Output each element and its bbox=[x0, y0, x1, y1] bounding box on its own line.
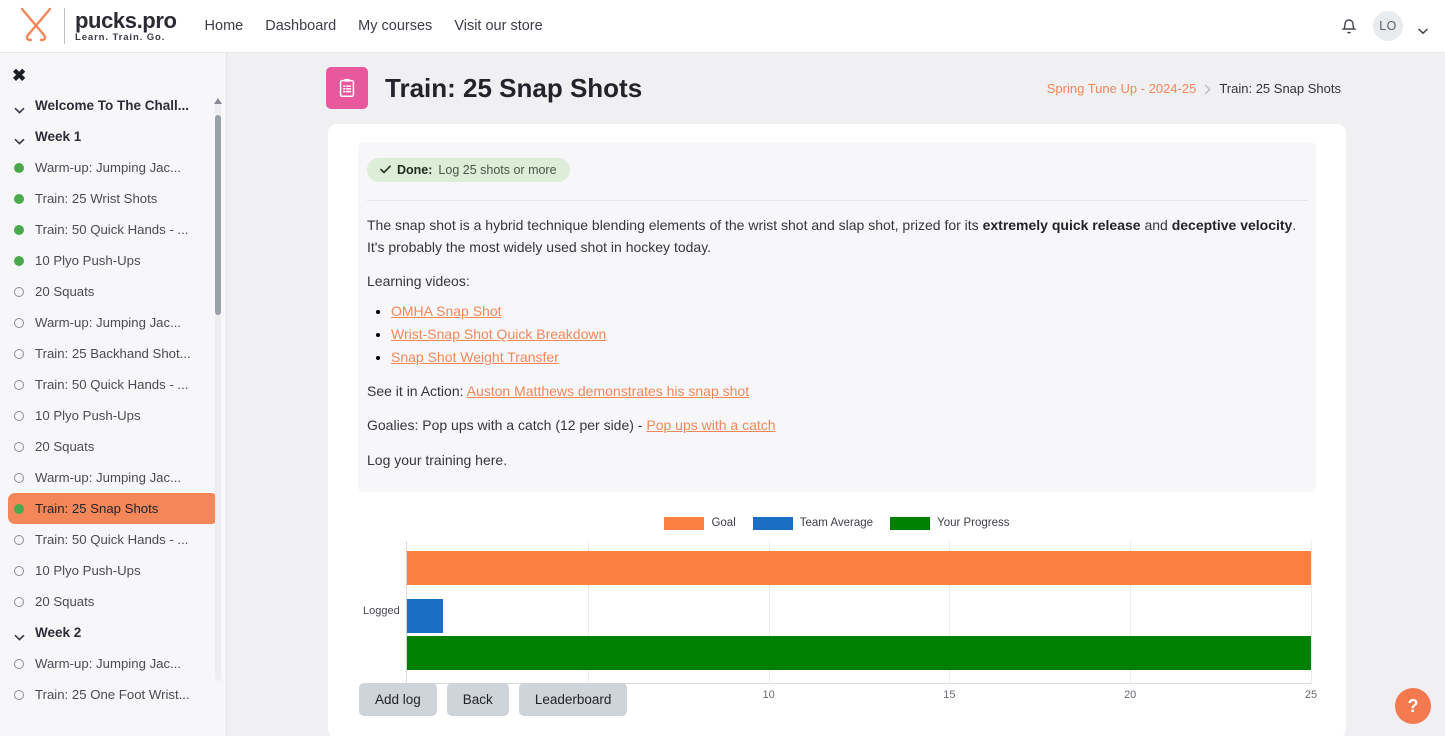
status-badge-requirement: Log 25 shots or more bbox=[438, 163, 556, 177]
nav-link-home[interactable]: Home bbox=[205, 18, 244, 34]
back-button[interactable]: Back bbox=[447, 683, 509, 716]
action-button-row: Add log Back Leaderboard bbox=[359, 683, 627, 716]
incomplete-circle-icon bbox=[14, 442, 24, 452]
sidebar-item-label: Train: 25 Wrist Shots bbox=[35, 191, 157, 206]
sidebar-section-label: Week 1 bbox=[35, 129, 81, 144]
see-in-action-prefix: See it in Action: bbox=[367, 383, 467, 399]
chevron-down-icon bbox=[14, 102, 25, 109]
page-header: Train: 25 Snap Shots Spring Tune Up - 20… bbox=[227, 53, 1445, 119]
sidebar-item-list: Welcome To The Chall...Week 1Warm-up: Ju… bbox=[0, 90, 226, 710]
sidebar-item-16[interactable]: 20 Squats bbox=[8, 586, 218, 617]
sidebar-item-label: Train: 50 Quick Hands - ... bbox=[35, 377, 188, 392]
goalies-prefix: Goalies: Pop ups with a catch (12 per si… bbox=[367, 417, 646, 433]
legend-label: Your Progress bbox=[937, 517, 1009, 529]
status-badge: Done: Log 25 shots or more bbox=[367, 158, 570, 182]
video-link-wrist-snap-shot-quick-breakdown[interactable]: Wrist-Snap Shot Quick Breakdown bbox=[391, 326, 606, 342]
chart-x-tick-label: 15 bbox=[943, 689, 955, 701]
see-in-action-paragraph: See it in Action: Auston Matthews demons… bbox=[367, 381, 1307, 403]
legend-item-1[interactable]: Team Average bbox=[753, 517, 873, 530]
nav-link-visit-our-store[interactable]: Visit our store bbox=[454, 18, 542, 34]
list-item: Snap Shot Weight Transfer bbox=[391, 348, 1307, 367]
sidebar-item-18[interactable]: Warm-up: Jumping Jac... bbox=[8, 648, 218, 679]
chevron-down-icon bbox=[14, 629, 25, 636]
legend-swatch-icon bbox=[753, 517, 793, 530]
chart-x-tick-label: 10 bbox=[762, 689, 774, 701]
chevron-down-icon bbox=[14, 133, 25, 140]
status-badge-state: Done: bbox=[397, 163, 432, 177]
nav-link-my-courses[interactable]: My courses bbox=[358, 18, 432, 34]
brand-tagline: Learn. Train. Go. bbox=[75, 32, 177, 43]
sidebar-item-label: 20 Squats bbox=[35, 284, 94, 299]
chart-legend: GoalTeam AverageYour Progress bbox=[358, 517, 1316, 530]
legend-item-0[interactable]: Goal bbox=[664, 517, 735, 530]
chart-bar-your-progress bbox=[407, 636, 1311, 670]
sidebar-section-0[interactable]: Welcome To The Chall... bbox=[0, 90, 226, 121]
chart-bar-goal bbox=[407, 551, 1311, 585]
brand-name: pucks.pro bbox=[75, 9, 177, 32]
sidebar-item-12[interactable]: Warm-up: Jumping Jac... bbox=[8, 462, 218, 493]
sidebar-item-8[interactable]: Train: 25 Backhand Shot... bbox=[8, 338, 218, 369]
sidebar-item-11[interactable]: 20 Squats bbox=[8, 431, 218, 462]
sidebar-item-label: Train: 50 Quick Hands - ... bbox=[35, 222, 188, 237]
intro-text-1: The snap shot is a hybrid technique blen… bbox=[367, 217, 983, 233]
sidebar-section-1[interactable]: Week 1 bbox=[0, 121, 226, 152]
avatar[interactable]: LO bbox=[1373, 11, 1403, 41]
sidebar-item-6[interactable]: 20 Squats bbox=[8, 276, 218, 307]
chevron-down-icon[interactable] bbox=[1417, 22, 1429, 30]
course-sidebar: ✖ Welcome To The Chall...Week 1Warm-up: … bbox=[0, 53, 227, 736]
goalies-paragraph: Goalies: Pop ups with a catch (12 per si… bbox=[367, 415, 1307, 437]
videos-heading: Learning videos: bbox=[367, 271, 1307, 293]
legend-swatch-icon bbox=[890, 517, 930, 530]
sidebar-section-label: Week 2 bbox=[35, 625, 81, 640]
legend-label: Goal bbox=[711, 517, 735, 529]
sidebar-item-label: 20 Squats bbox=[35, 594, 94, 609]
chart-plot-area: Logged 0510152025 bbox=[406, 541, 1310, 684]
incomplete-circle-icon bbox=[14, 473, 24, 483]
sidebar-item-15[interactable]: 10 Plyo Push-Ups bbox=[8, 555, 218, 586]
sidebar-item-label: Warm-up: Jumping Jac... bbox=[35, 315, 181, 330]
clipboard-checklist-icon bbox=[326, 67, 368, 109]
top-navigation-bar: pucks.pro Learn. Train. Go. Home Dashboa… bbox=[0, 0, 1445, 53]
intro-text-2: and bbox=[1141, 217, 1172, 233]
activity-card: Done: Log 25 shots or more The snap shot… bbox=[328, 124, 1346, 736]
sidebar-item-4[interactable]: Train: 50 Quick Hands - ... bbox=[8, 214, 218, 245]
chart-x-tick-label: 20 bbox=[1124, 689, 1136, 701]
video-link-omha-snap-shot[interactable]: OMHA Snap Shot bbox=[391, 303, 502, 319]
sidebar-section-label: Welcome To The Chall... bbox=[35, 98, 189, 113]
breadcrumb-current: Train: 25 Snap Shots bbox=[1219, 81, 1341, 96]
list-item: OMHA Snap Shot bbox=[391, 302, 1307, 321]
breadcrumb: Spring Tune Up - 2024-25 Train: 25 Snap … bbox=[1047, 81, 1341, 96]
completed-dot-icon bbox=[14, 163, 24, 173]
sidebar-item-5[interactable]: 10 Plyo Push-Ups bbox=[8, 245, 218, 276]
completed-dot-icon bbox=[14, 194, 24, 204]
divider bbox=[367, 200, 1307, 201]
sidebar-item-label: Train: 25 Snap Shots bbox=[35, 501, 158, 516]
legend-label: Team Average bbox=[800, 517, 873, 529]
sidebar-item-label: Warm-up: Jumping Jac... bbox=[35, 656, 181, 671]
legend-item-2[interactable]: Your Progress bbox=[890, 517, 1009, 530]
leaderboard-button[interactable]: Leaderboard bbox=[519, 683, 628, 716]
sidebar-item-label: Train: 25 Backhand Shot... bbox=[35, 346, 191, 361]
intro-paragraph: The snap shot is a hybrid technique blen… bbox=[367, 215, 1307, 258]
chart-y-category-label: Logged bbox=[363, 605, 400, 617]
intro-bold-2: deceptive velocity bbox=[1172, 217, 1293, 233]
sidebar-item-label: 10 Plyo Push-Ups bbox=[35, 563, 141, 578]
page-title: Train: 25 Snap Shots bbox=[385, 73, 642, 104]
chart-bar-team-average bbox=[407, 599, 443, 633]
notification-bell-icon[interactable] bbox=[1339, 16, 1359, 36]
see-in-action-link[interactable]: Auston Matthews demonstrates his snap sh… bbox=[467, 383, 749, 399]
primary-nav-links: Home Dashboard My courses Visit our stor… bbox=[205, 18, 543, 34]
incomplete-circle-icon bbox=[14, 566, 24, 576]
crossed-hockey-sticks-icon bbox=[12, 5, 60, 47]
legend-swatch-icon bbox=[664, 517, 704, 530]
completed-dot-icon bbox=[14, 504, 24, 514]
scroll-up-arrow-icon[interactable] bbox=[214, 91, 222, 97]
sidebar-section-17[interactable]: Week 2 bbox=[0, 617, 226, 648]
sidebar-item-label: Warm-up: Jumping Jac... bbox=[35, 470, 181, 485]
sidebar-item-10[interactable]: 10 Plyo Push-Ups bbox=[8, 400, 218, 431]
help-button[interactable]: ? bbox=[1395, 688, 1431, 724]
incomplete-circle-icon bbox=[14, 690, 24, 700]
intro-bold-1: extremely quick release bbox=[983, 217, 1141, 233]
sidebar-item-label: 10 Plyo Push-Ups bbox=[35, 253, 141, 268]
learning-videos-list: OMHA Snap Shot Wrist-Snap Shot Quick Bre… bbox=[391, 302, 1307, 367]
breadcrumb-parent-link[interactable]: Spring Tune Up - 2024-25 bbox=[1047, 81, 1197, 96]
chevron-right-icon bbox=[1204, 83, 1211, 94]
sidebar-item-label: 10 Plyo Push-Ups bbox=[35, 408, 141, 423]
sidebar-item-7[interactable]: Warm-up: Jumping Jac... bbox=[8, 307, 218, 338]
sidebar-item-label: Train: 50 Quick Hands - ... bbox=[35, 532, 188, 547]
incomplete-circle-icon bbox=[14, 597, 24, 607]
sidebar-item-14[interactable]: Train: 50 Quick Hands - ... bbox=[8, 524, 218, 555]
sidebar-item-label: Warm-up: Jumping Jac... bbox=[35, 160, 181, 175]
incomplete-circle-icon bbox=[14, 318, 24, 328]
completed-dot-icon bbox=[14, 256, 24, 266]
incomplete-circle-icon bbox=[14, 380, 24, 390]
sidebar-item-label: Train: 25 One Foot Wrist... bbox=[35, 687, 190, 702]
incomplete-circle-icon bbox=[14, 659, 24, 669]
chart-x-tick-label: 25 bbox=[1305, 689, 1317, 701]
sidebar-item-19[interactable]: Train: 25 One Foot Wrist... bbox=[8, 679, 218, 710]
list-item: Wrist-Snap Shot Quick Breakdown bbox=[391, 325, 1307, 344]
log-prompt: Log your training here. bbox=[367, 450, 1307, 472]
sidebar-close-icon[interactable]: ✖ bbox=[12, 67, 34, 84]
activity-description-box: Done: Log 25 shots or more The snap shot… bbox=[358, 142, 1316, 492]
check-icon bbox=[380, 163, 391, 177]
video-link-snap-shot-weight-transfer[interactable]: Snap Shot Weight Transfer bbox=[391, 349, 559, 365]
sidebar-item-3[interactable]: Train: 25 Wrist Shots bbox=[8, 183, 218, 214]
nav-link-dashboard[interactable]: Dashboard bbox=[265, 18, 336, 34]
sidebar-item-2[interactable]: Warm-up: Jumping Jac... bbox=[8, 152, 218, 183]
brand-logo[interactable]: pucks.pro Learn. Train. Go. bbox=[12, 5, 177, 47]
logo-divider bbox=[64, 8, 65, 44]
chart-gridline bbox=[1311, 541, 1312, 684]
completed-dot-icon bbox=[14, 225, 24, 235]
sidebar-scrollbar[interactable] bbox=[215, 101, 221, 681]
sidebar-item-13[interactable]: Train: 25 Snap Shots bbox=[8, 493, 218, 524]
sidebar-item-label: 20 Squats bbox=[35, 439, 94, 454]
incomplete-circle-icon bbox=[14, 535, 24, 545]
add-log-button[interactable]: Add log bbox=[359, 683, 437, 716]
sidebar-item-9[interactable]: Train: 50 Quick Hands - ... bbox=[8, 369, 218, 400]
incomplete-circle-icon bbox=[14, 411, 24, 421]
incomplete-circle-icon bbox=[14, 287, 24, 297]
goalies-link[interactable]: Pop ups with a catch bbox=[646, 417, 775, 433]
main-content: Train: 25 Snap Shots Spring Tune Up - 20… bbox=[227, 53, 1445, 736]
incomplete-circle-icon bbox=[14, 349, 24, 359]
